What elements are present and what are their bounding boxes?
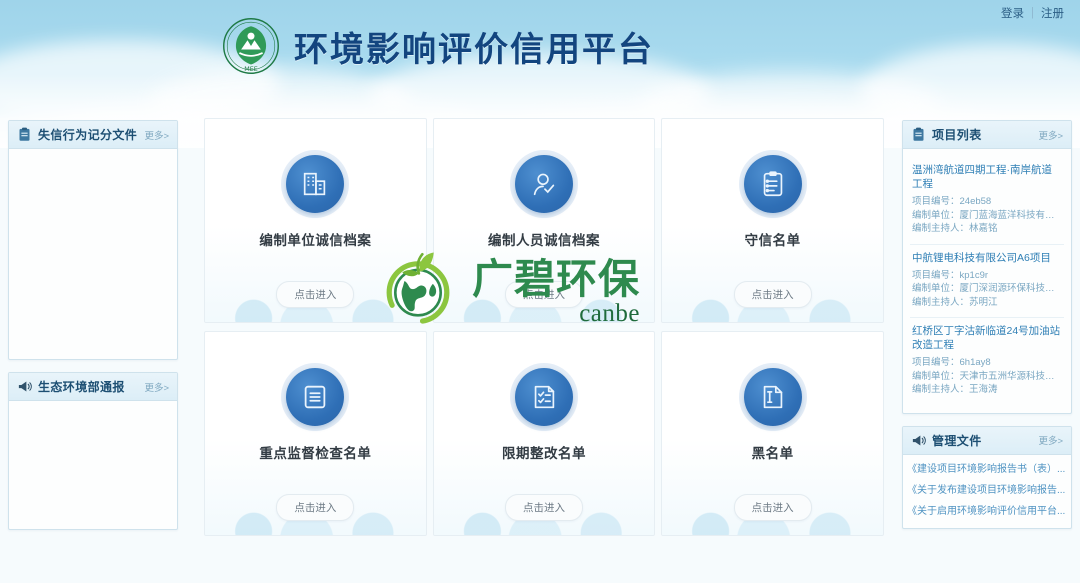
label-code: 项目编号：	[912, 357, 960, 368]
site-header: MEE 环境影响评价信用平台	[0, 0, 1080, 92]
project-code-row: 项目编号：6h1ay8	[912, 356, 1062, 370]
project-host: 林嘉铭	[969, 223, 998, 234]
user-check-icon	[515, 155, 573, 213]
list-item[interactable]: 《建设项目环境影响报告书（表）...	[907, 459, 1067, 480]
label-host: 编制主持人：	[912, 297, 969, 308]
more-link[interactable]: 更多>	[144, 128, 169, 142]
megaphone-icon	[17, 379, 32, 394]
clipboard-icon	[911, 127, 926, 142]
project-name[interactable]: 中航锂电科技有限公司A6项目	[912, 251, 1062, 265]
panel-header: 失信行为记分文件 更多>	[9, 121, 177, 149]
list-item[interactable]: 温洲湾航道四期工程·南岸航道工程 项目编号：24eb58 编制单位：厦门蓝海蓝洋…	[910, 157, 1064, 244]
card-label: 重点监督检查名单	[259, 442, 371, 462]
card-label: 守信名单	[745, 229, 801, 249]
label-code: 项目编号：	[912, 196, 960, 207]
list-item[interactable]: 红桥区丁字沽新临道24号加油站改造工程 项目编号：6h1ay8 编制单位：天津市…	[910, 317, 1064, 405]
megaphone-icon	[911, 433, 926, 448]
panel-title: 生态环境部通报	[38, 378, 125, 395]
project-name[interactable]: 红桥区丁字沽新临道24号加油站改造工程	[912, 324, 1062, 352]
project-code: 24eb58	[960, 196, 992, 207]
project-code-row: 项目编号：24eb58	[912, 195, 1062, 209]
label-unit: 编制单位：	[912, 283, 960, 294]
project-unit: 天津市五洲华源科技有限公司	[960, 371, 1062, 382]
card-compiling-unit-credit-archive[interactable]: 编制单位诚信档案 点击进入	[204, 118, 427, 323]
enter-button[interactable]: 点击进入	[276, 281, 354, 308]
more-link[interactable]: 更多>	[1038, 433, 1063, 447]
clipboard-list-icon	[744, 155, 802, 213]
label-unit: 编制单位：	[912, 371, 960, 382]
panel-header: 管理文件 更多>	[903, 427, 1071, 455]
panel-title: 项目列表	[932, 126, 982, 143]
label-host: 编制主持人：	[912, 223, 969, 234]
list-item[interactable]: 《关于启用环境影响评价信用平台...	[907, 501, 1067, 522]
entry-card-grid: 编制单位诚信档案 点击进入 编制人员诚信档案 点击进入	[204, 118, 884, 536]
panel-title: 失信行为记分文件	[38, 126, 137, 143]
register-link[interactable]: 注册	[1041, 5, 1064, 21]
main-content: 编制单位诚信档案 点击进入 编制人员诚信档案 点击进入	[186, 110, 894, 583]
project-host-row: 编制主持人：苏明江	[912, 296, 1062, 310]
project-host-row: 编制主持人：王海涛	[912, 383, 1062, 397]
project-host-row: 编制主持人：林嘉铭	[912, 222, 1062, 236]
svg-text:MEE: MEE	[244, 65, 258, 73]
card-label: 黑名单	[752, 442, 794, 462]
project-unit-row: 编制单位：厦门深润源环保科技有限公司	[912, 282, 1062, 296]
panel-title: 管理文件	[932, 432, 982, 449]
enter-button[interactable]: 点击进入	[734, 281, 812, 308]
project-unit-row: 编制单位：厦门蓝海蓝洋科技有限公司	[912, 209, 1062, 223]
project-code: kp1c9r	[960, 270, 989, 281]
panel-header: 项目列表 更多>	[903, 121, 1071, 149]
topbar-separator: |	[1031, 7, 1034, 19]
list-item[interactable]: 《关于发布建设项目环境影响报告...	[907, 480, 1067, 501]
mee-national-emblem-icon: MEE	[222, 17, 280, 75]
card-rectification-deadline-list[interactable]: 限期整改名单 点击进入	[433, 331, 656, 536]
project-host: 王海涛	[969, 384, 998, 395]
project-name[interactable]: 温洲湾航道四期工程·南岸航道工程	[912, 163, 1062, 191]
project-code: 6h1ay8	[960, 357, 991, 368]
enter-button[interactable]: 点击进入	[505, 281, 583, 308]
enter-button[interactable]: 点击进入	[734, 494, 812, 521]
topbar: 登录 | 注册	[985, 0, 1080, 26]
document-lines-icon	[286, 368, 344, 426]
project-unit: 厦门深润源环保科技有限公司	[960, 283, 1062, 294]
card-label: 限期整改名单	[502, 442, 586, 462]
left-sidebar: 失信行为记分文件 更多> 生态环境部通报 更多>	[0, 110, 186, 583]
panel-management-documents: 管理文件 更多> 《建设项目环境影响报告书（表）... 《关于发布建设项目环境影…	[902, 426, 1072, 529]
panel-project-list: 项目列表 更多> 温洲湾航道四期工程·南岸航道工程 项目编号：24eb58 编制…	[902, 120, 1072, 414]
panel-content-empty	[9, 401, 177, 529]
clipboard-icon	[17, 127, 32, 142]
right-sidebar: 项目列表 更多> 温洲湾航道四期工程·南岸航道工程 项目编号：24eb58 编制…	[894, 110, 1080, 583]
checklist-icon	[515, 368, 573, 426]
page-title: 环境影响评价信用平台	[294, 22, 654, 71]
building-icon	[286, 155, 344, 213]
label-host: 编制主持人：	[912, 384, 969, 395]
panel-mee-bulletins: 生态环境部通报 更多>	[8, 372, 178, 530]
login-link[interactable]: 登录	[1001, 5, 1024, 21]
file-torn-icon	[744, 368, 802, 426]
enter-button[interactable]: 点击进入	[276, 494, 354, 521]
project-unit-row: 编制单位：天津市五洲华源科技有限公司	[912, 370, 1062, 384]
card-label: 编制单位诚信档案	[259, 229, 371, 249]
project-list: 温洲湾航道四期工程·南岸航道工程 项目编号：24eb58 编制单位：厦门蓝海蓝洋…	[903, 149, 1071, 413]
card-blacklist[interactable]: 黑名单 点击进入	[661, 331, 884, 536]
panel-dishonesty-score-files: 失信行为记分文件 更多>	[8, 120, 178, 360]
list-item[interactable]: 中航锂电科技有限公司A6项目 项目编号：kp1c9r 编制单位：厦门深润源环保科…	[910, 244, 1064, 318]
project-unit: 厦门蓝海蓝洋科技有限公司	[960, 210, 1062, 221]
card-compiling-person-credit-archive[interactable]: 编制人员诚信档案 点击进入	[433, 118, 656, 323]
label-code: 项目编号：	[912, 270, 960, 281]
page-body: 失信行为记分文件 更多> 生态环境部通报 更多>	[0, 110, 1080, 583]
document-list: 《建设项目环境影响报告书（表）... 《关于发布建设项目环境影响报告... 《关…	[903, 455, 1071, 528]
project-code-row: 项目编号：kp1c9r	[912, 269, 1062, 283]
card-label: 编制人员诚信档案	[488, 229, 600, 249]
enter-button[interactable]: 点击进入	[505, 494, 583, 521]
panel-content-empty	[9, 149, 177, 359]
card-trustworthy-list[interactable]: 守信名单 点击进入	[661, 118, 884, 323]
more-link[interactable]: 更多>	[144, 380, 169, 394]
panel-header: 生态环境部通报 更多>	[9, 373, 177, 401]
project-host: 苏明江	[969, 297, 998, 308]
label-unit: 编制单位：	[912, 210, 960, 221]
more-link[interactable]: 更多>	[1038, 128, 1063, 142]
card-key-supervision-inspection-list[interactable]: 重点监督检查名单 点击进入	[204, 331, 427, 536]
